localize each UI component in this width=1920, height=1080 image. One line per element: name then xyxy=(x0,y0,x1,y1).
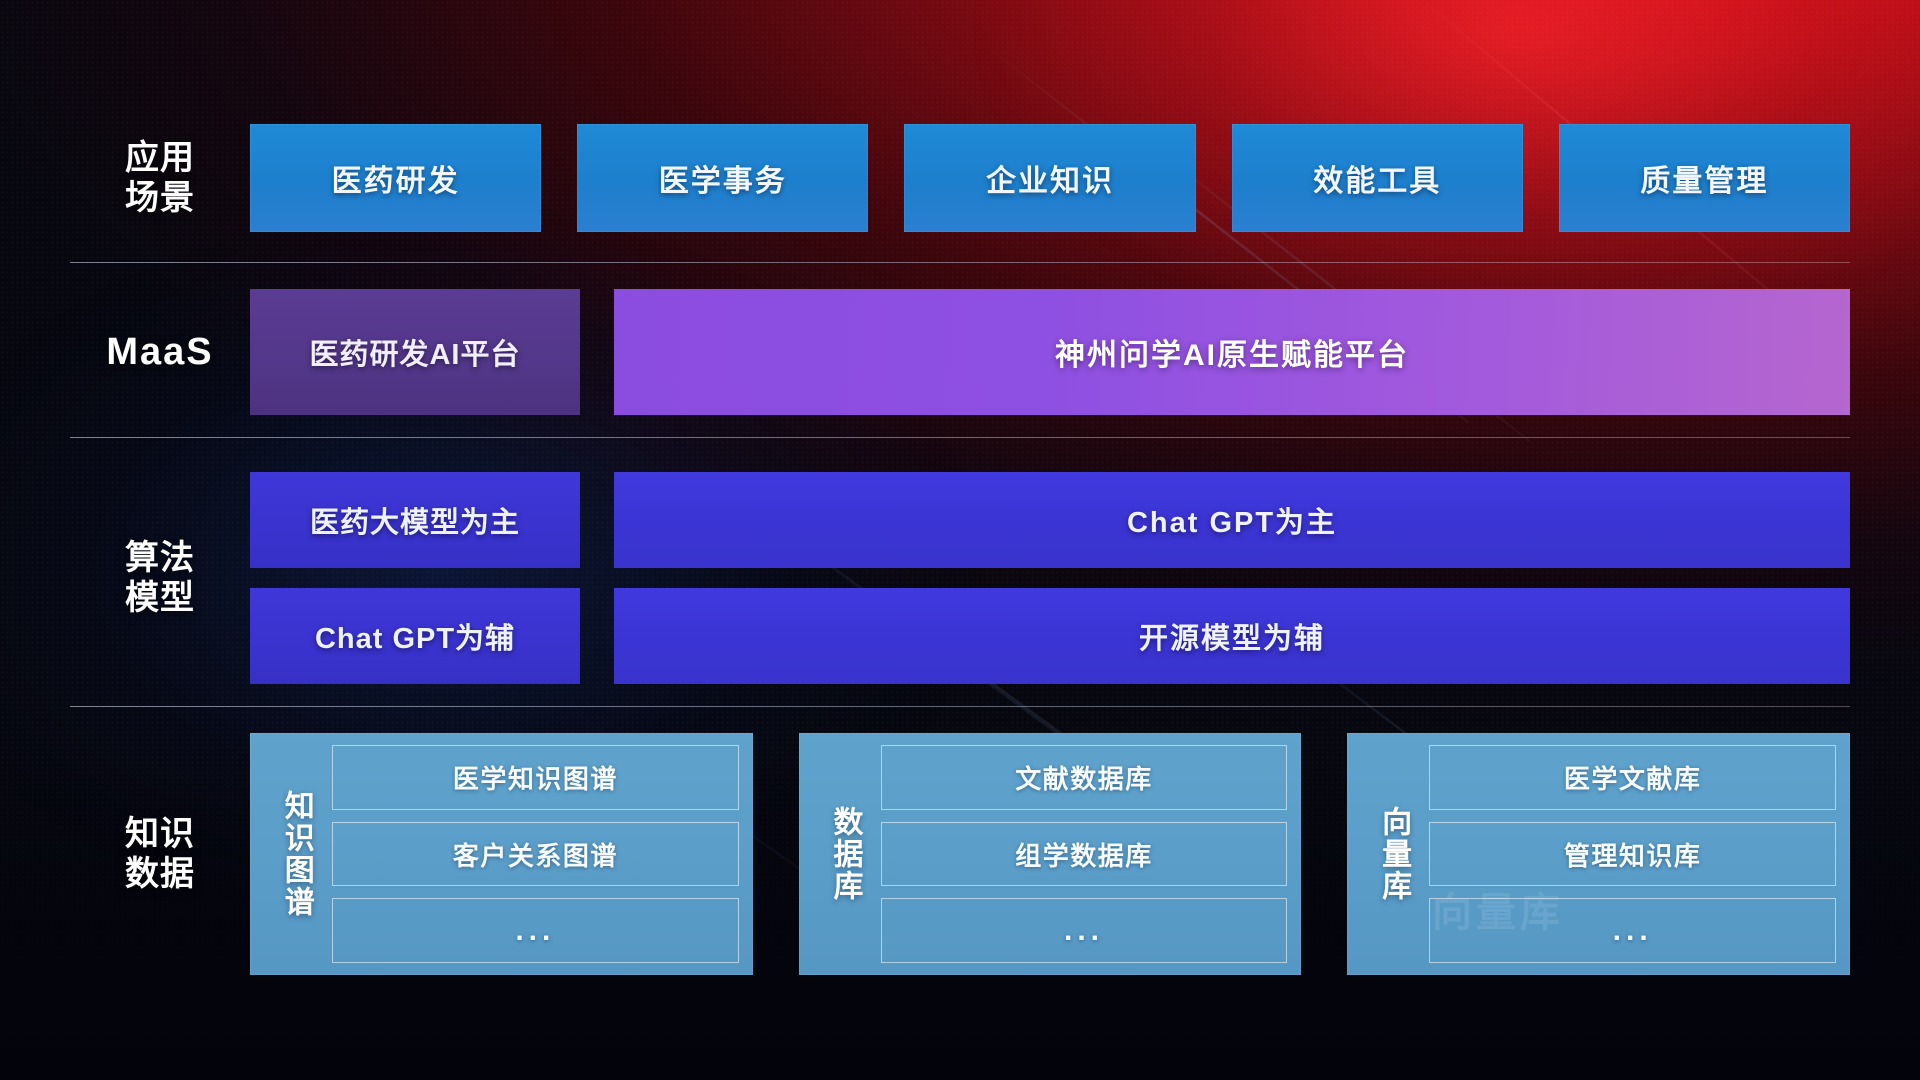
architecture-diagram: 应用 场景 医药研发 医学事务 企业知识 效能工具 质量管理 MaaS 医药研发… xyxy=(0,0,1920,1080)
app-card-efficiency-tools[interactable]: 效能工具 xyxy=(1232,124,1523,232)
algorithm-card-chatgpt-secondary[interactable]: Chat GPT为辅 xyxy=(250,588,580,684)
knowledge-item-customer-relation-graph[interactable]: 客户关系图谱 xyxy=(332,822,739,887)
knowledge-group-database[interactable]: 数据库 文献数据库 组学数据库 ... xyxy=(799,733,1302,975)
knowledge-item-list-knowledge-graph: 医学知识图谱 客户关系图谱 ... xyxy=(332,745,739,963)
knowledge-group-title-database: 数据库 xyxy=(809,745,881,963)
algorithm-line-secondary: Chat GPT为辅 开源模型为辅 xyxy=(250,588,1850,684)
divider-apps-maas xyxy=(70,262,1850,263)
diagram-canvas: 应用 场景 医药研发 医学事务 企业知识 效能工具 质量管理 MaaS 医药研发… xyxy=(0,0,1920,1080)
app-card-pharma-rd[interactable]: 医药研发 xyxy=(250,124,541,232)
knowledge-item-medical-knowledge-graph[interactable]: 医学知识图谱 xyxy=(332,745,739,810)
knowledge-group-knowledge-graph[interactable]: 知识图谱 医学知识图谱 客户关系图谱 ... xyxy=(250,733,753,975)
application-card-list: 医药研发 医学事务 企业知识 效能工具 质量管理 xyxy=(250,124,1850,232)
knowledge-group-title-vector-store: 向量库 xyxy=(1357,745,1429,963)
maas-card-pharma-ai-platform[interactable]: 医药研发AI平台 xyxy=(250,289,580,415)
app-card-medical-affairs[interactable]: 医学事务 xyxy=(577,124,868,232)
row-knowledge-data: 知识 数据 知识图谱 医学知识图谱 客户关系图谱 ... 数据库 文献数据库 组… xyxy=(70,730,1850,978)
maas-card-shenzhou-wenxue-platform[interactable]: 神州问学AI原生赋能平台 xyxy=(614,289,1850,415)
knowledge-group-title-knowledge-graph: 知识图谱 xyxy=(260,745,332,963)
row-application-scenarios: 应用 场景 医药研发 医学事务 企业知识 效能工具 质量管理 xyxy=(70,118,1850,238)
algorithm-card-pharma-llm-primary[interactable]: 医药大模型为主 xyxy=(250,472,580,568)
knowledge-group-vector-store[interactable]: 向量库 医学文献库 管理知识库 ... xyxy=(1347,733,1850,975)
divider-maas-algorithm xyxy=(70,437,1850,438)
knowledge-item-more-knowledge-graph[interactable]: ... xyxy=(332,898,739,963)
knowledge-item-more-vector-store[interactable]: ... xyxy=(1429,898,1836,963)
maas-card-list: 医药研发AI平台 神州问学AI原生赋能平台 xyxy=(250,289,1850,415)
algorithm-card-opensource-secondary[interactable]: 开源模型为辅 xyxy=(614,588,1850,684)
knowledge-item-medical-literature-store[interactable]: 医学文献库 xyxy=(1429,745,1836,810)
row-algorithm-models: 算法 模型 医药大模型为主 Chat GPT为主 Chat GPT为辅 开源模型… xyxy=(70,462,1850,694)
knowledge-item-more-database[interactable]: ... xyxy=(881,898,1288,963)
knowledge-group-list: 知识图谱 医学知识图谱 客户关系图谱 ... 数据库 文献数据库 组学数据库 .… xyxy=(250,733,1850,975)
algorithm-line-primary: 医药大模型为主 Chat GPT为主 xyxy=(250,472,1850,568)
row-label-maas: MaaS xyxy=(70,330,250,375)
divider-algorithm-knowledge xyxy=(70,706,1850,707)
knowledge-item-management-knowledge-store[interactable]: 管理知识库 xyxy=(1429,822,1836,887)
row-label-knowledge-data: 知识 数据 xyxy=(70,814,250,894)
knowledge-item-literature-database[interactable]: 文献数据库 xyxy=(881,745,1288,810)
app-card-quality-management[interactable]: 质量管理 xyxy=(1559,124,1850,232)
knowledge-item-list-database: 文献数据库 组学数据库 ... xyxy=(881,745,1288,963)
row-label-algorithm-models: 算法 模型 xyxy=(70,538,250,618)
row-label-application-scenarios: 应用 场景 xyxy=(70,138,250,218)
knowledge-item-list-vector-store: 医学文献库 管理知识库 ... xyxy=(1429,745,1836,963)
knowledge-item-omics-database[interactable]: 组学数据库 xyxy=(881,822,1288,887)
row-maas: MaaS 医药研发AI平台 神州问学AI原生赋能平台 xyxy=(70,288,1850,416)
algorithm-card-chatgpt-primary[interactable]: Chat GPT为主 xyxy=(614,472,1850,568)
algorithm-card-grid: 医药大模型为主 Chat GPT为主 Chat GPT为辅 开源模型为辅 xyxy=(250,472,1850,684)
app-card-enterprise-knowledge[interactable]: 企业知识 xyxy=(904,124,1195,232)
